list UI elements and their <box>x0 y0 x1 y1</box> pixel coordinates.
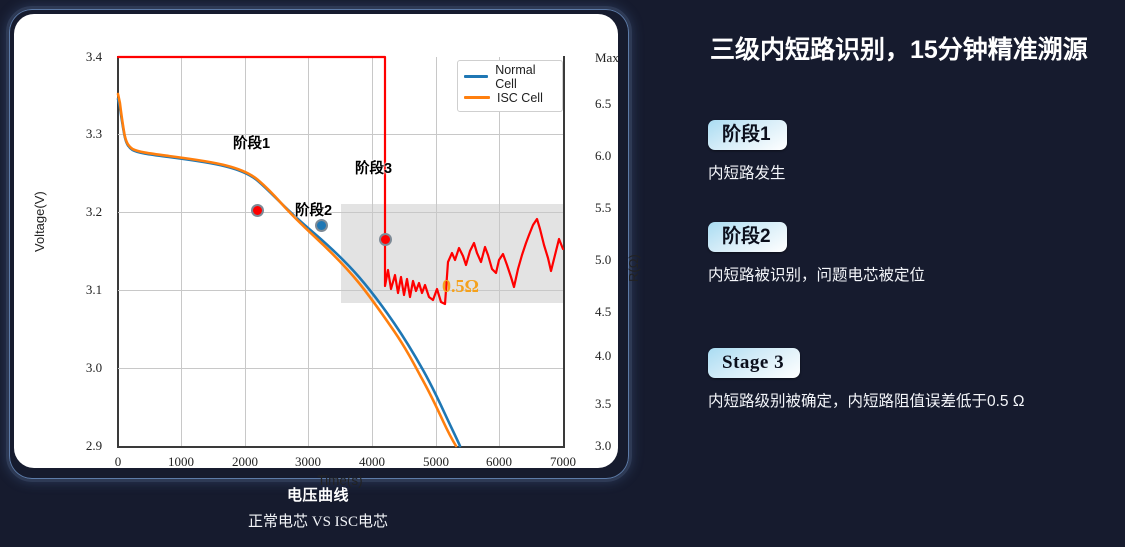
legend-swatch-icon <box>464 75 488 78</box>
caption-title: 电压曲线 <box>14 484 622 505</box>
stage-3-badge: Stage 3 <box>708 348 800 378</box>
stage-1-marker[interactable] <box>251 204 264 217</box>
series-normal-cell-path <box>118 99 460 446</box>
chart-legend[interactable]: Normal Cell ISC Cell <box>457 60 563 112</box>
y2-tick-4.0: 4.0 <box>595 348 611 364</box>
x-tick-2000: 2000 <box>232 454 258 470</box>
y2-tick-4.5: 4.5 <box>595 304 611 320</box>
stage-block-2: 阶段2 内短路被识别，问题电芯被定位 <box>708 222 1108 285</box>
x-tick-3000: 3000 <box>295 454 321 470</box>
x-tick-5000: 5000 <box>423 454 449 470</box>
y2-tick-3.0: 3.0 <box>595 438 611 454</box>
legend-swatch-icon <box>464 96 490 99</box>
x-tick-1000: 1000 <box>168 454 194 470</box>
x-tick-6000: 6000 <box>486 454 512 470</box>
caption-subtitle: 正常电芯 VS ISC电芯 <box>14 510 622 531</box>
legend-item-isc-cell[interactable]: ISC Cell <box>464 87 556 108</box>
stage-3-description: 内短路级别被确定，内短路阻值误差低于0.5 Ω <box>708 389 1108 411</box>
stage-3-marker[interactable] <box>379 233 392 246</box>
x-tick-7000: 7000 <box>550 454 576 470</box>
series-isc-cell-path <box>118 94 456 446</box>
x-tick-0: 0 <box>115 454 122 470</box>
y2-tick-5.5: 5.5 <box>595 200 611 216</box>
stage-2-annotation: 阶段2 <box>295 199 332 220</box>
stage-block-3: Stage 3 内短路级别被确定，内短路阻值误差低于0.5 Ω <box>708 348 1108 411</box>
plot-area <box>118 57 563 446</box>
y-axis-title: Voltage(V) <box>32 191 47 252</box>
y2-tick-max: Max <box>595 50 619 66</box>
info-panel: 三级内短路识别，15分钟精准溯源 阶段1 内短路发生 阶段2 内短路被识别，问题… <box>690 0 1125 547</box>
y2-tick-3.5: 3.5 <box>595 396 611 412</box>
page-title: 三级内短路识别，15分钟精准溯源 <box>710 30 1088 66</box>
stage-1-badge: 阶段1 <box>708 120 787 150</box>
y2-tick-5.0: 5.0 <box>595 252 611 268</box>
stage-2-badge: 阶段2 <box>708 222 787 252</box>
y2-axis-title: R(Ω) <box>626 254 641 282</box>
x-axis-line <box>117 446 565 448</box>
y-tick-3.0: 3.0 <box>86 360 102 376</box>
resistance-error-annotation: 0.5Ω <box>442 276 479 297</box>
series-paths <box>118 57 563 446</box>
y-tick-3.2: 3.2 <box>86 204 102 220</box>
stage-3-annotation: 阶段3 <box>355 157 392 178</box>
stage-2-description: 内短路被识别，问题电芯被定位 <box>708 263 1108 285</box>
stage-1-annotation: 阶段1 <box>233 132 270 153</box>
legend-item-normal-cell[interactable]: Normal Cell <box>464 66 556 87</box>
y2-axis-line <box>563 56 565 447</box>
y2-tick-6.0: 6.0 <box>595 148 611 164</box>
legend-label: ISC Cell <box>497 91 543 105</box>
x-tick-4000: 4000 <box>359 454 385 470</box>
y-tick-3.4: 3.4 <box>86 49 102 65</box>
y-tick-3.1: 3.1 <box>86 282 102 298</box>
chart-caption: 电压曲线 正常电芯 VS ISC电芯 <box>14 484 622 531</box>
y-tick-2.9: 2.9 <box>86 438 102 454</box>
y2-tick-6.5: 6.5 <box>595 96 611 112</box>
stage-1-description: 内短路发生 <box>708 161 1108 183</box>
chart-card: 阶段1 阶段2 阶段3 0.5Ω 3.4 3.3 3.2 3.1 3.0 2.9… <box>14 14 618 468</box>
y-tick-3.3: 3.3 <box>86 126 102 142</box>
legend-label: Normal Cell <box>495 63 556 91</box>
stage-2-marker[interactable] <box>315 219 328 232</box>
stage-block-1: 阶段1 内短路发生 <box>708 120 1108 183</box>
